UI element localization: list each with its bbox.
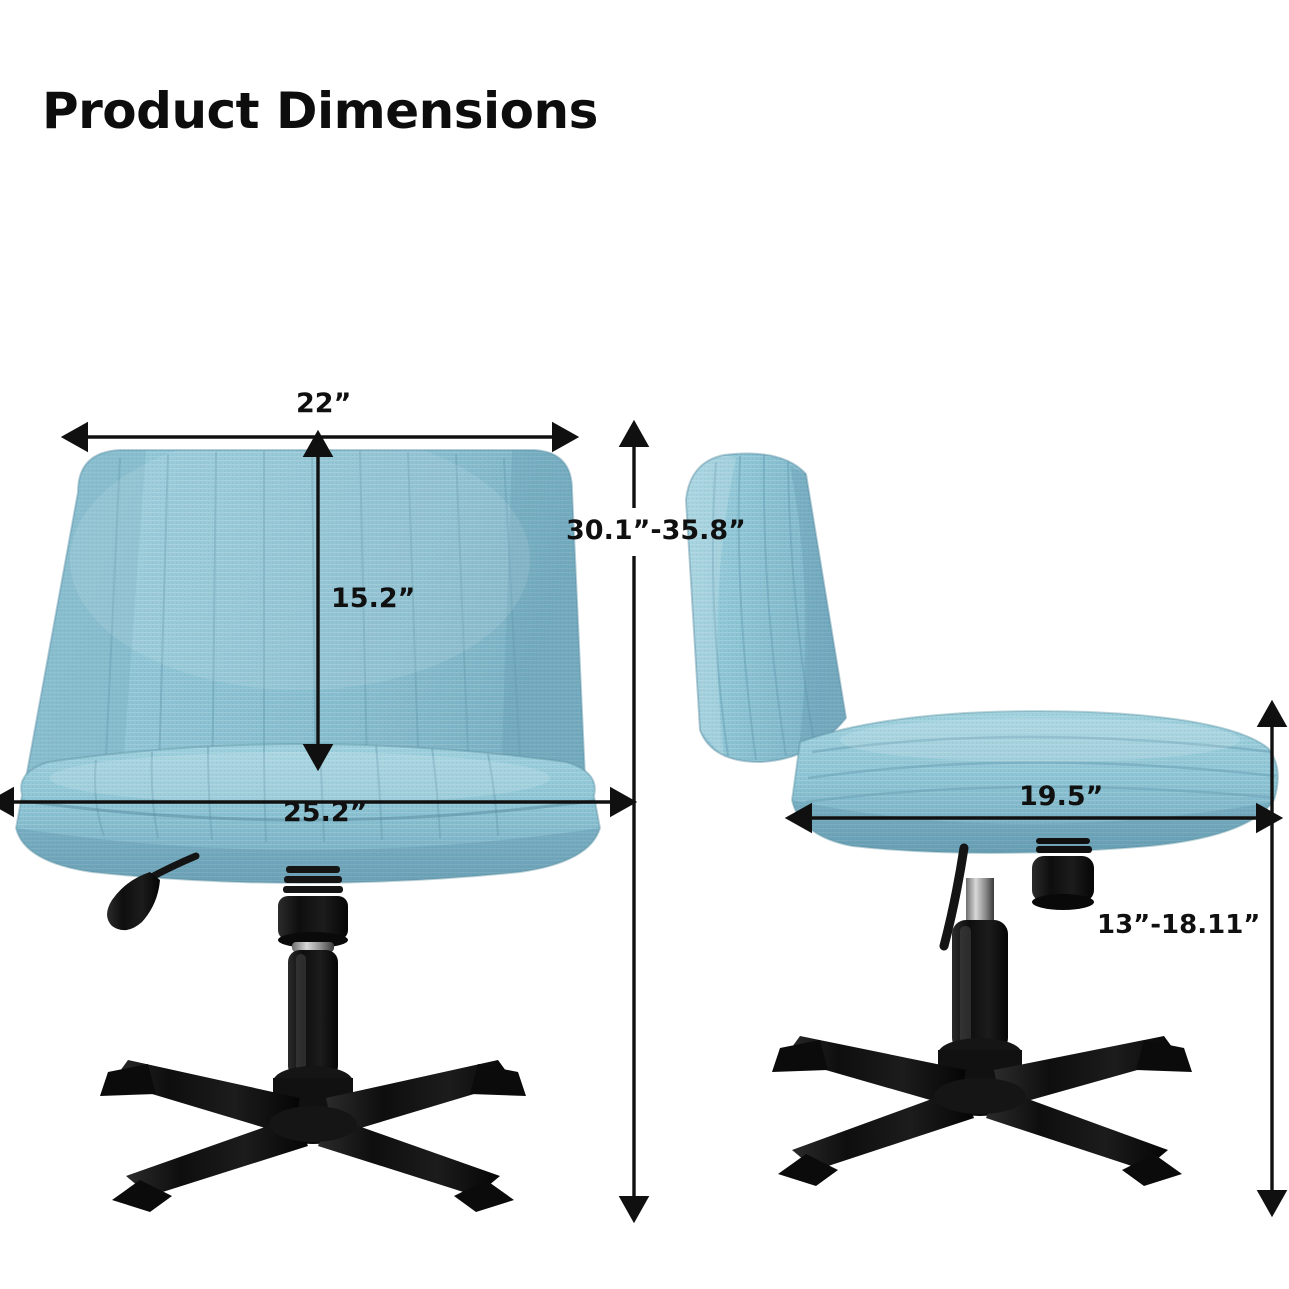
side-tension-knob [1032, 838, 1094, 910]
dimension-label-seat-height: 13”-18.11” [1097, 910, 1260, 940]
dimension-label-back-height: 15.2” [331, 583, 415, 614]
product-dimensions-diagram: Product Dimensions [0, 0, 1289, 1289]
dimension-label-overall-height: 30.1”-35.8” [566, 515, 746, 546]
dimension-label-seat-depth: 19.5” [1019, 781, 1103, 812]
dimension-label-overall-width: 25.2” [283, 797, 367, 828]
dimension-label-back-width: 22” [296, 388, 351, 419]
side-view-chair-illustration [0, 0, 1289, 1289]
